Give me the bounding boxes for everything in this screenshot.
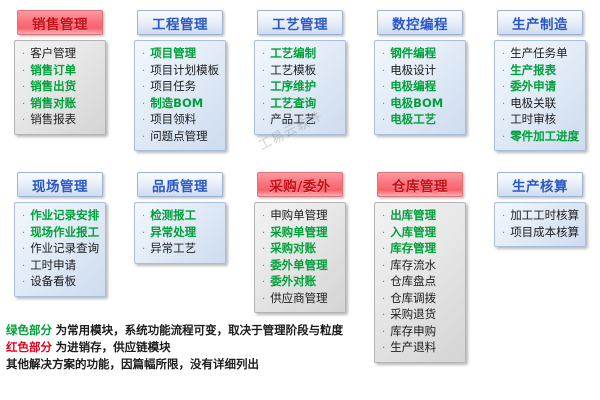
bullet-icon: · [382,81,385,96]
bullet-icon: · [262,98,265,113]
module-list-item[interactable]: ·加工工时核算 [502,208,581,225]
module-list-item-label: 项目管理 [150,46,196,61]
bullet-icon: · [22,276,25,291]
module-list-item[interactable]: ·钢件编程 [382,46,461,63]
module-list-item-label: 项目领料 [150,112,196,127]
module-item-panel: ·检测报工·异常处理·异常工艺 [134,202,226,264]
bullet-icon: · [142,48,145,63]
bullet-icon: · [142,114,145,129]
bullet-icon: · [502,81,505,96]
bullet-icon: · [22,260,25,275]
module-list-item[interactable]: ·项目管理 [142,46,221,63]
bullet-icon: · [382,65,385,80]
module-list-item-label: 电极工艺 [390,112,436,127]
bullet-icon: · [382,260,385,275]
module-list-item-label: 采购对账 [270,241,316,256]
bullet-icon: · [382,243,385,258]
module-list-item-label: 销售出货 [30,79,76,94]
module-list-item[interactable]: ·作业记录安排 [22,208,101,225]
bullet-icon: · [22,243,25,258]
module-list-item[interactable]: ·采购对账 [262,241,341,258]
module-list-item[interactable]: ·工艺模板 [262,63,341,80]
module-list-item[interactable]: ·现场作业报工 [22,225,101,242]
module-list-item-label: 工时审核 [510,112,556,127]
module-list-item[interactable]: ·产品工艺 [262,112,341,129]
module-header-数控编程[interactable]: 数控编程 [377,10,463,35]
module-list-item[interactable]: ·委外单管理 [262,258,341,275]
module-column: 生产制造·生产任务单·生产报表·委外申请·电极关联·工时审核·零件加工进度 [480,10,600,151]
module-list-item-label: 客户管理 [30,46,76,61]
bullet-icon: · [142,243,145,258]
module-list-item[interactable]: ·制造BOM [142,96,221,113]
module-item-panel: ·工艺编制·工艺模板·工序维护·工艺查询·产品工艺 [254,40,346,135]
module-item-panel: ·申购单管理·采购单管理·采购对账·委外单管理·委外对账·供应商管理 [254,202,346,313]
module-header-仓库管理[interactable]: 仓库管理 [377,172,463,197]
module-list-item-label: 仓库盘点 [390,274,436,289]
module-list-item-label: 委外单管理 [270,258,328,273]
module-list-item[interactable]: ·工艺编制 [262,46,341,63]
module-list-item-label: 项目成本核算 [510,225,579,240]
bullet-icon: · [22,210,25,225]
module-list-item-label: 工序维护 [270,79,316,94]
module-list-item[interactable]: ·工序维护 [262,79,341,96]
module-list-item[interactable]: ·采购单管理 [262,225,341,242]
module-list-item[interactable]: ·项目成本核算 [502,225,581,242]
bullet-icon: · [142,227,145,242]
bullet-icon: · [502,227,505,242]
bullet-icon: · [262,293,265,308]
module-list-item-label: 问题点管理 [150,129,208,144]
module-list-item-label: 销售订单 [30,63,76,78]
bullet-icon: · [22,65,25,80]
bullet-icon: · [142,65,145,80]
module-column: 工程管理·项目管理·项目计划模板·项目任务·制造BOM·项目领料·问题点管理 [120,10,240,151]
bullet-icon: · [262,243,265,258]
module-list-item[interactable]: ·入库管理 [382,225,461,242]
module-list-item[interactable]: ·异常处理 [142,225,221,242]
module-list-item-label: 工艺模板 [270,63,316,78]
bullet-icon: · [382,114,385,129]
module-header-销售管理[interactable]: 销售管理 [17,10,103,35]
module-list-item-label: 采购单管理 [270,225,328,240]
module-list-item-label: 现场作业报工 [30,225,99,240]
module-header-现场管理[interactable]: 现场管理 [17,172,103,197]
module-list-item-label: 申购单管理 [270,208,328,223]
module-header-生产核算[interactable]: 生产核算 [497,172,583,197]
module-list-item[interactable]: ·问题点管理 [142,129,221,146]
module-header-生产制造[interactable]: 生产制造 [497,10,583,35]
legend-line-green: 绿色部分 为常用模块，系统功能流程可变，取决于管理阶段与粒度 [6,322,426,339]
module-list-item[interactable]: ·电极关联 [502,96,581,113]
bullet-icon: · [262,114,265,129]
module-list-item[interactable]: ·工艺查询 [262,96,341,113]
legend-block: 绿色部分 为常用模块，系统功能流程可变，取决于管理阶段与粒度 红色部分 为进销存… [6,322,426,373]
legend-line-red: 红色部分 为进销存，供应链模块 [6,339,426,356]
module-list-item-label: 项目计划模板 [150,63,219,78]
module-list-item[interactable]: ·检测报工 [142,208,221,225]
module-list-item[interactable]: ·电极BOM [382,96,461,113]
bullet-icon: · [262,81,265,96]
module-list-item-label: 电极BOM [390,96,443,111]
module-list-item-label: 出库管理 [390,208,436,223]
module-list-item-label: 工艺编制 [270,46,316,61]
module-list-item[interactable]: ·委外申请 [502,79,581,96]
module-list-item[interactable]: ·仓库盘点 [382,274,461,291]
module-list-item[interactable]: ·作业记录查询 [22,241,101,258]
bullet-icon: · [382,276,385,291]
module-item-panel: ·钢件编程·电极设计·电极编程·电极BOM·电极工艺 [374,40,466,135]
module-list-item[interactable]: ·销售报表 [22,112,101,129]
module-list-item[interactable]: ·工时审核 [502,112,581,129]
bullet-icon: · [382,293,385,308]
legend-note-text: 其他解决方案的功能，因篇幅所限，没有详细列出 [6,357,259,371]
module-item-panel: ·生产任务单·生产报表·委外申请·电极关联·工时审核·零件加工进度 [494,40,586,151]
bullet-icon: · [382,48,385,63]
module-list-item-label: 电极关联 [510,96,556,111]
bullet-icon: · [142,98,145,113]
bullet-icon: · [502,65,505,80]
bullet-icon: · [262,48,265,63]
module-list-item[interactable]: ·项目任务 [142,79,221,96]
module-list-item-label: 委外申请 [510,79,556,94]
module-list-item-label: 采购退货 [390,307,436,322]
module-list-item-label: 库存流水 [390,258,436,273]
module-list-item-label: 产品工艺 [270,112,316,127]
module-list-item-label: 仓库调拨 [390,291,436,306]
legend-red-body: 为进销存，供应链模块 [56,340,171,354]
module-list-item-label: 工时申请 [30,258,76,273]
module-list-item-label: 委外对账 [270,274,316,289]
module-list-item[interactable]: ·零件加工进度 [502,129,581,146]
bullet-icon: · [262,276,265,291]
module-list-item-label: 异常工艺 [150,241,196,256]
legend-line-note: 其他解决方案的功能，因篇幅所限，没有详细列出 [6,356,426,373]
bullet-icon: · [382,227,385,242]
module-list-item[interactable]: ·电极工艺 [382,112,461,129]
module-list-item-label: 作业记录查询 [30,241,99,256]
module-item-panel: ·作业记录安排·现场作业报工·作业记录查询·工时申请·设备看板 [14,202,106,297]
module-header-工艺管理[interactable]: 工艺管理 [257,10,343,35]
bullet-icon: · [262,210,265,225]
module-list-item[interactable]: ·销售对账 [22,96,101,113]
module-list-item[interactable]: ·供应商管理 [262,291,341,308]
module-list-item[interactable]: ·客户管理 [22,46,101,63]
module-item-panel: ·项目管理·项目计划模板·项目任务·制造BOM·项目领料·问题点管理 [134,40,226,151]
module-list-item[interactable]: ·项目计划模板 [142,63,221,80]
module-list-item[interactable]: ·仓库调拨 [382,291,461,308]
module-list-item-label: 异常处理 [150,225,196,240]
module-column: 销售管理·客户管理·销售订单·销售出货·销售对账·销售报表 [0,10,120,151]
module-list-item-label: 生产任务单 [510,46,568,61]
module-header-采购/委外[interactable]: 采购/委外 [257,172,343,197]
bullet-icon: · [142,210,145,225]
module-list-item-label: 零件加工进度 [510,129,579,144]
bullet-icon: · [502,131,505,146]
module-list-item[interactable]: ·生产报表 [502,63,581,80]
module-item-panel: ·加工工时核算·项目成本核算 [494,202,586,247]
bullet-icon: · [502,98,505,113]
module-list-item[interactable]: ·工时申请 [22,258,101,275]
module-list-item[interactable]: ·库存流水 [382,258,461,275]
module-list-item-label: 检测报工 [150,208,196,223]
module-list-item-label: 设备看板 [30,274,76,289]
module-item-panel: ·客户管理·销售订单·销售出货·销售对账·销售报表 [14,40,106,135]
module-list-item-label: 生产报表 [510,63,556,78]
bullet-icon: · [262,65,265,80]
bullet-icon: · [22,114,25,129]
module-list-item[interactable]: ·销售订单 [22,63,101,80]
module-list-item[interactable]: ·委外对账 [262,274,341,291]
bullet-icon: · [382,98,385,113]
module-list-item-label: 电极编程 [390,79,436,94]
bullet-icon: · [22,81,25,96]
module-list-item-label: 电极设计 [390,63,436,78]
module-row-top: 销售管理·客户管理·销售订单·销售出货·销售对账·销售报表工程管理·项目管理·项… [0,10,600,151]
module-list-item[interactable]: ·电极设计 [382,63,461,80]
module-list-item[interactable]: ·库存管理 [382,241,461,258]
module-list-item-label: 库存管理 [390,241,436,256]
module-list-item-label: 加工工时核算 [510,208,579,223]
module-list-item[interactable]: ·项目领料 [142,112,221,129]
bullet-icon: · [262,227,265,242]
bullet-icon: · [22,98,25,113]
bullet-icon: · [22,48,25,63]
module-list-item-label: 销售对账 [30,96,76,111]
legend-green-body: 为常用模块，系统功能流程可变，取决于管理阶段与粒度 [56,323,344,337]
diagram-canvas: 销售管理·客户管理·销售订单·销售出货·销售对账·销售报表工程管理·项目管理·项… [0,0,600,400]
module-list-item-label: 制造BOM [150,96,203,111]
module-list-item-label: 入库管理 [390,225,436,240]
module-list-item-label: 销售报表 [30,112,76,127]
module-column: 数控编程·钢件编程·电极设计·电极编程·电极BOM·电极工艺 [360,10,480,151]
module-list-item[interactable]: ·申购单管理 [262,208,341,225]
module-list-item-label: 作业记录安排 [30,208,99,223]
bullet-icon: · [502,114,505,129]
module-list-item[interactable]: ·生产任务单 [502,46,581,63]
module-column: 生产核算·加工工时核算·项目成本核算 [480,172,600,363]
bullet-icon: · [142,81,145,96]
module-list-item[interactable]: ·电极编程 [382,79,461,96]
module-list-item[interactable]: ·设备看板 [22,274,101,291]
module-header-工程管理[interactable]: 工程管理 [137,10,223,35]
bullet-icon: · [142,131,145,146]
module-list-item[interactable]: ·出库管理 [382,208,461,225]
module-list-item[interactable]: ·异常工艺 [142,241,221,258]
bullet-icon: · [262,260,265,275]
bullet-icon: · [502,48,505,63]
legend-red-tag: 红色部分 [6,340,52,354]
module-list-item[interactable]: ·销售出货 [22,79,101,96]
module-list-item-label: 供应商管理 [270,291,328,306]
module-column: 工艺管理·工艺编制·工艺模板·工序维护·工艺查询·产品工艺 [240,10,360,151]
legend-green-tag: 绿色部分 [6,323,52,337]
module-header-品质管理[interactable]: 品质管理 [137,172,223,197]
module-list-item-label: 钢件编程 [390,46,436,61]
bullet-icon: · [22,227,25,242]
module-list-item-label: 工艺查询 [270,96,316,111]
bullet-icon: · [382,210,385,225]
module-list-item-label: 项目任务 [150,79,196,94]
bullet-icon: · [502,210,505,225]
